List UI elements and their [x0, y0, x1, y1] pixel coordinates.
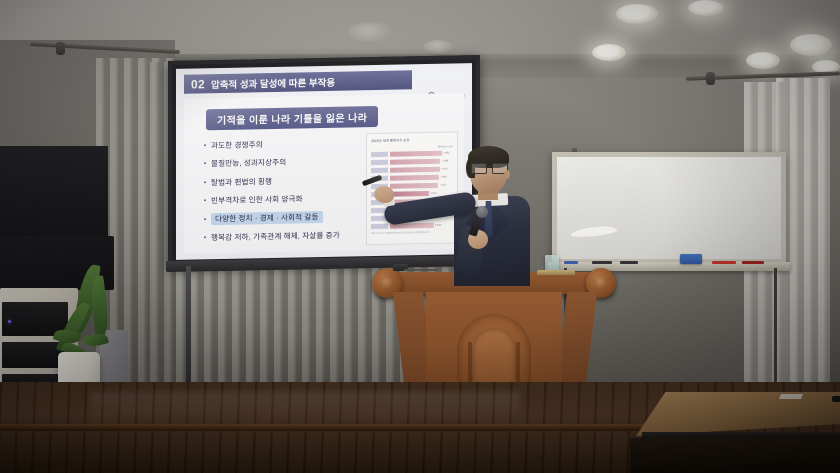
screen-stand-leg [186, 266, 191, 386]
whiteboard [552, 152, 786, 264]
list-item: 빈부격차로 인한 사회 양극화 [204, 192, 379, 206]
table-object [832, 396, 840, 402]
list-item: 과도한 경쟁주의 [204, 137, 379, 151]
slide-section-number: 02 [191, 77, 205, 91]
bullet-dot-icon [204, 199, 206, 201]
slide-bullet-list: 과도한 경쟁주의 물질만능, 성과지상주의 탈법과 편법의 횡행 빈부격차로 인… [204, 137, 379, 251]
eyeglass-lens-left [471, 163, 487, 174]
bullet-text: 행복감 저하, 가족관계 해체, 자살률 증가 [211, 231, 340, 242]
rack-power-led [8, 320, 11, 323]
whiteboard-stand-leg [774, 268, 777, 386]
marker-red [742, 261, 764, 264]
eyeglasses-icon [471, 163, 506, 173]
wall-monitor [0, 146, 108, 238]
bullet-text: 빈부격차로 인한 사회 양극화 [211, 195, 303, 206]
ceiling-light-icon [592, 44, 626, 61]
whiteboard-glare [571, 225, 618, 238]
whiteboard-eraser [680, 254, 702, 264]
bullet-text: 탈법과 편법의 횡행 [211, 177, 272, 187]
podium-knob-ring [594, 276, 608, 290]
ceiling-light-icon [790, 34, 832, 56]
presenter [378, 146, 548, 281]
ceiling-light-icon [424, 40, 452, 53]
lecture-hall-photo: 02 압축적 성과 달성에 따른 부작용 한국경제연구원 기적을 이룬 나라 기… [0, 0, 840, 473]
table-top [636, 392, 840, 436]
chart-title: 2023년 세계 행복지수 순위 [371, 137, 453, 144]
ceiling-light-icon [616, 4, 658, 24]
table-paper [779, 394, 803, 399]
list-item: 탈법과 편법의 횡행 [204, 174, 379, 188]
bullet-dot-icon [204, 144, 206, 146]
bullet-dot-icon [204, 236, 206, 238]
presenter-ear [504, 170, 510, 179]
ceiling-light-icon [746, 52, 780, 69]
foreground-seating [630, 438, 840, 473]
ceiling-light-icon [348, 22, 392, 42]
slide-subtitle: 기적을 이룬 나라 기틀을 잃은 나라 [206, 106, 378, 130]
slide-title-bar: 02 압축적 성과 달성에 따른 부작용 [184, 70, 412, 93]
presenter-hand-pointing [374, 186, 394, 203]
list-item: 물질만능, 성과지상주의 [204, 155, 379, 169]
bullet-text: 물질만능, 성과지상주의 [211, 158, 286, 168]
bullet-dot-icon [204, 163, 206, 165]
bullet-text: 과도한 경쟁주의 [211, 140, 263, 150]
bullet-dot-icon [204, 181, 206, 183]
marker-red [712, 261, 736, 264]
floor-reflection [90, 392, 520, 426]
list-item: 행복감 저하, 가족관계 해체, 자살률 증가 [204, 229, 379, 243]
curtain-rail-bracket [56, 42, 65, 55]
curtain-rail-bracket [706, 72, 715, 85]
eyeglass-bridge [485, 166, 492, 167]
marker-black [620, 261, 638, 264]
bullet-text: 다양한 정치 · 경제 · 사회적 갈등 [211, 211, 323, 225]
list-item-highlighted: 다양한 정치 · 경제 · 사회적 갈등 [204, 211, 379, 225]
ceiling-light-icon [688, 0, 724, 16]
slide-title: 압축적 성과 달성에 따른 부작용 [211, 74, 335, 90]
bullet-dot-icon [204, 218, 206, 220]
